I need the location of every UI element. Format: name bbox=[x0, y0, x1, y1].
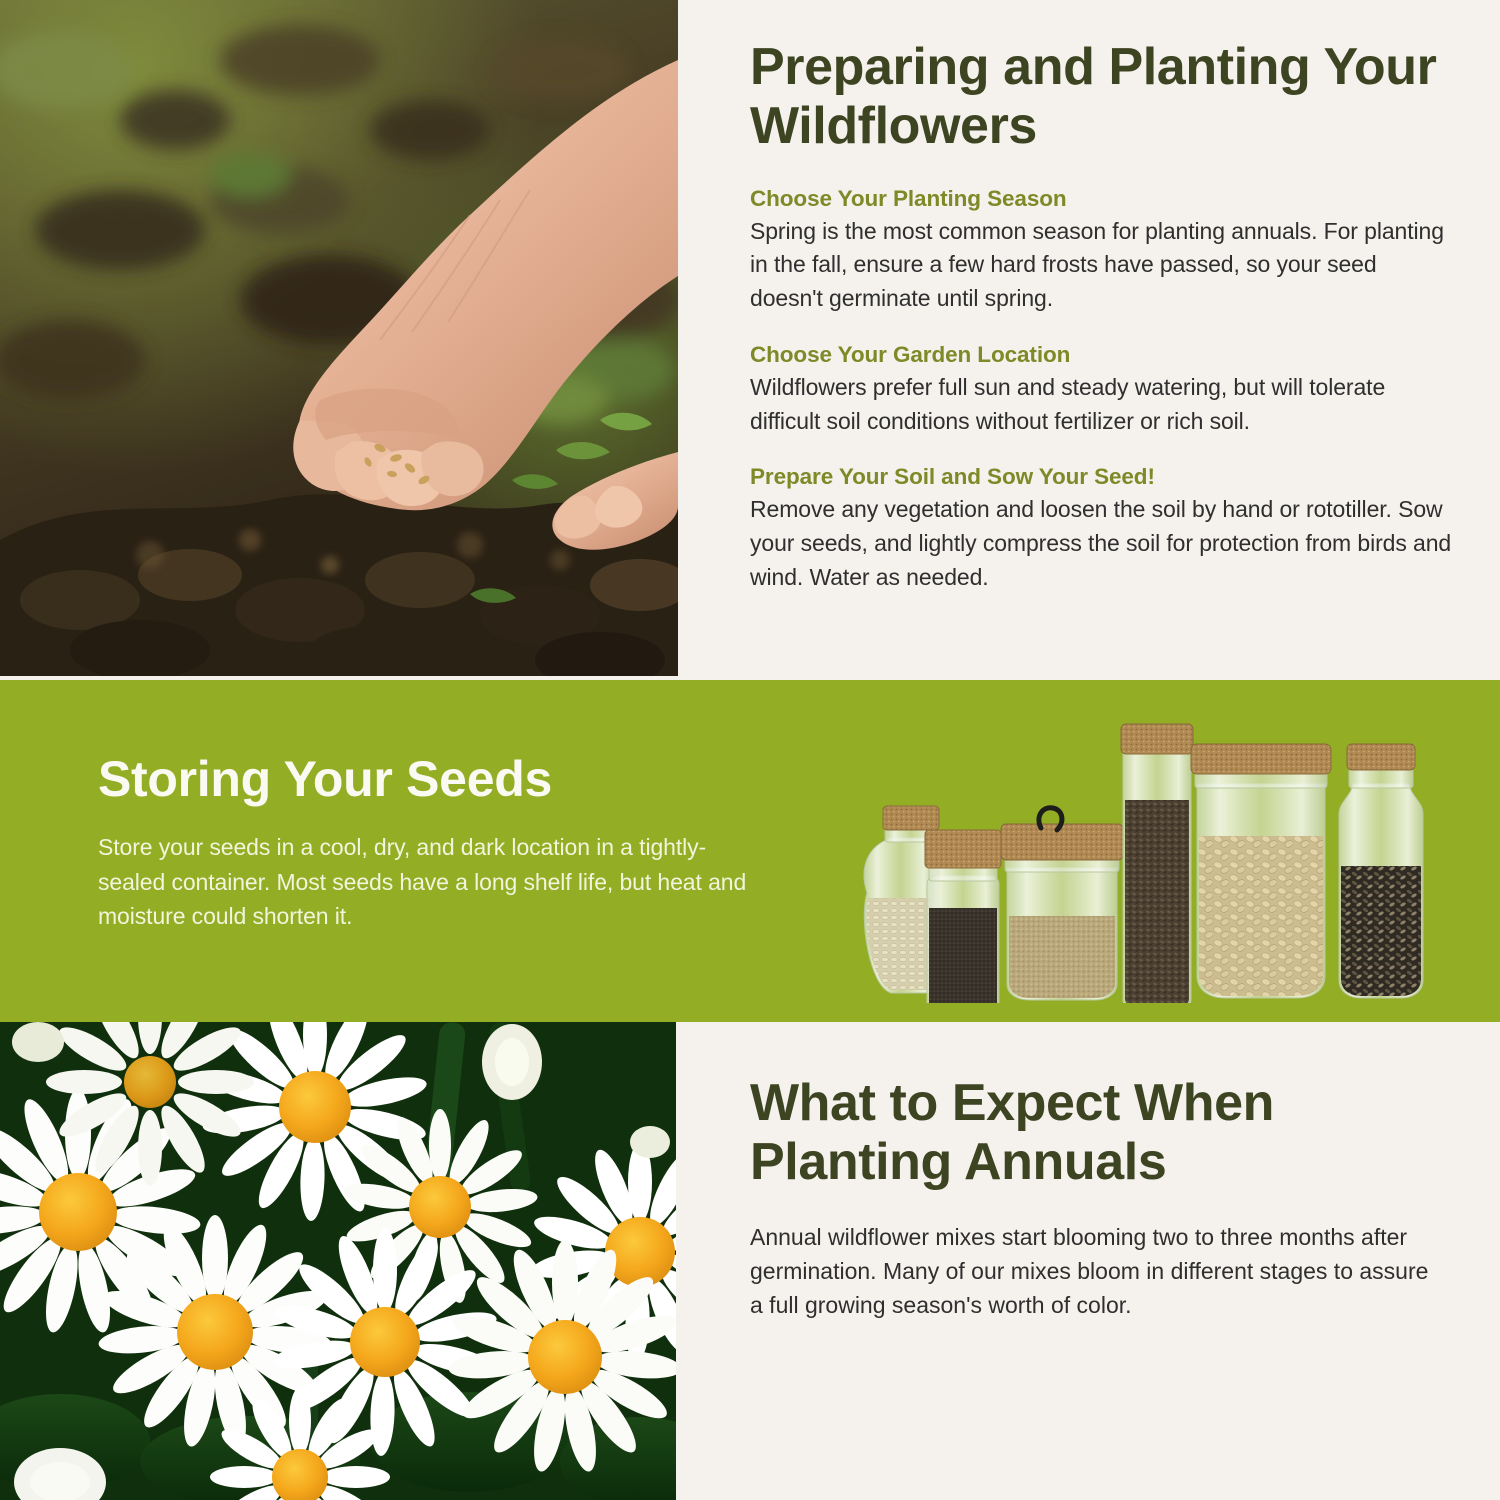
subheading-prepare-soil: Prepare Your Soil and Sow Your Seed! bbox=[750, 464, 1454, 490]
jar-black-seed bbox=[925, 830, 1005, 1003]
info-block-planting-season: Choose Your Planting Season Spring is th… bbox=[750, 186, 1454, 316]
daisy-bud bbox=[630, 1126, 670, 1158]
page-title: Preparing and Planting Your Wildflowers bbox=[750, 38, 1454, 156]
body-garden-location: Wildflowers prefer full sun and steady w… bbox=[750, 371, 1454, 439]
daisy-bud bbox=[482, 1024, 542, 1100]
info-block-garden-location: Choose Your Garden Location Wildflowers … bbox=[750, 342, 1454, 439]
subheading-planting-season: Choose Your Planting Season bbox=[750, 186, 1454, 212]
daisy-bud bbox=[12, 1022, 64, 1062]
what-to-expect-body: Annual wildflower mixes start blooming t… bbox=[750, 1220, 1440, 1322]
subheading-garden-location: Choose Your Garden Location bbox=[750, 342, 1454, 368]
jar-pumpkin-seeds bbox=[1191, 744, 1331, 1000]
section1-text-column: Preparing and Planting Your Wildflowers … bbox=[700, 0, 1500, 680]
body-planting-season: Spring is the most common season for pla… bbox=[750, 215, 1454, 316]
what-to-expect-title: What to Expect When Planting Annuals bbox=[750, 1074, 1440, 1192]
seed-jars-illustration-icon bbox=[845, 718, 1445, 1003]
jar-tan-grain bbox=[1001, 808, 1123, 1003]
jar-dark-flakes bbox=[1121, 724, 1195, 1003]
daisy-field-illustration-icon bbox=[0, 1022, 676, 1500]
soil-illustration-icon bbox=[0, 0, 678, 676]
section-what-to-expect: What to Expect When Planting Annuals Ann… bbox=[0, 1022, 1500, 1500]
section-preparing-planting: Preparing and Planting Your Wildflowers … bbox=[0, 0, 1500, 680]
jar-sunflower-seeds bbox=[1335, 744, 1427, 1002]
white-daisies-photo bbox=[0, 1022, 676, 1500]
storing-seeds-title: Storing Your Seeds bbox=[98, 752, 758, 806]
section2-text-column: Storing Your Seeds Store your seeds in a… bbox=[98, 752, 758, 934]
seed-jars-photo bbox=[845, 718, 1445, 1003]
section3-text-column: What to Expect When Planting Annuals Ann… bbox=[700, 1022, 1500, 1500]
body-prepare-soil: Remove any vegetation and loosen the soi… bbox=[750, 493, 1454, 594]
infographic-page: Preparing and Planting Your Wildflowers … bbox=[0, 0, 1500, 1500]
info-block-prepare-soil: Prepare Your Soil and Sow Your Seed! Rem… bbox=[750, 464, 1454, 594]
storing-seeds-body: Store your seeds in a cool, dry, and dar… bbox=[98, 830, 758, 934]
hand-sowing-seeds-photo bbox=[0, 0, 678, 676]
